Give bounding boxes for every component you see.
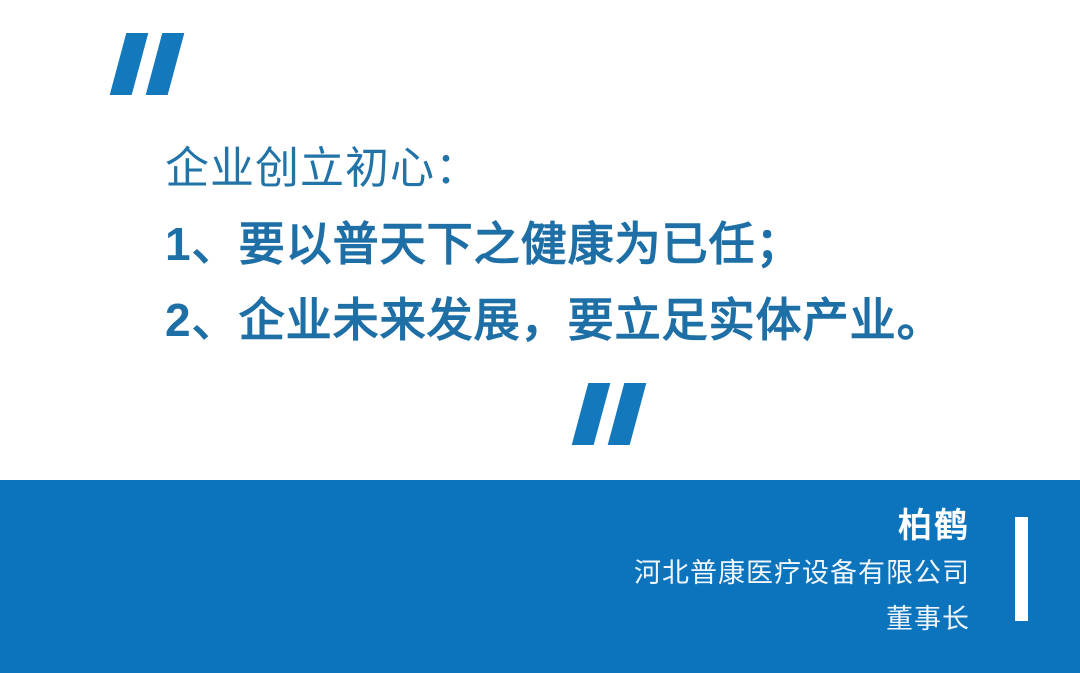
open-quote-icon <box>112 33 184 95</box>
quote-stroke-right <box>146 33 185 95</box>
quote-line-1: 企业创立初心： <box>165 132 1025 206</box>
quote-line-2: 1、要以普天下之健康为已任； <box>165 206 1025 282</box>
quote-line-3: 2、企业未来发展，要立足实体产业。 <box>165 282 1025 358</box>
quote-stroke-left <box>110 33 149 95</box>
vertical-rule-icon <box>1015 517 1028 621</box>
quote-card: 企业创立初心： 1、要以普天下之健康为已任； 2、企业未来发展，要立足实体产业。… <box>0 0 1080 673</box>
speaker-title: 董事长 <box>634 596 970 642</box>
close-quote-icon <box>574 383 646 445</box>
quote-stroke-right <box>608 383 647 445</box>
attribution-banner: 柏鹤 河北普康医疗设备有限公司 董事长 <box>0 480 1080 673</box>
quote-stroke-left <box>572 383 611 445</box>
attribution-block: 柏鹤 河北普康医疗设备有限公司 董事长 <box>634 502 970 642</box>
speaker-name: 柏鹤 <box>634 502 970 550</box>
speaker-company: 河北普康医疗设备有限公司 <box>634 550 970 596</box>
quote-text-block: 企业创立初心： 1、要以普天下之健康为已任； 2、企业未来发展，要立足实体产业。 <box>165 132 1025 358</box>
